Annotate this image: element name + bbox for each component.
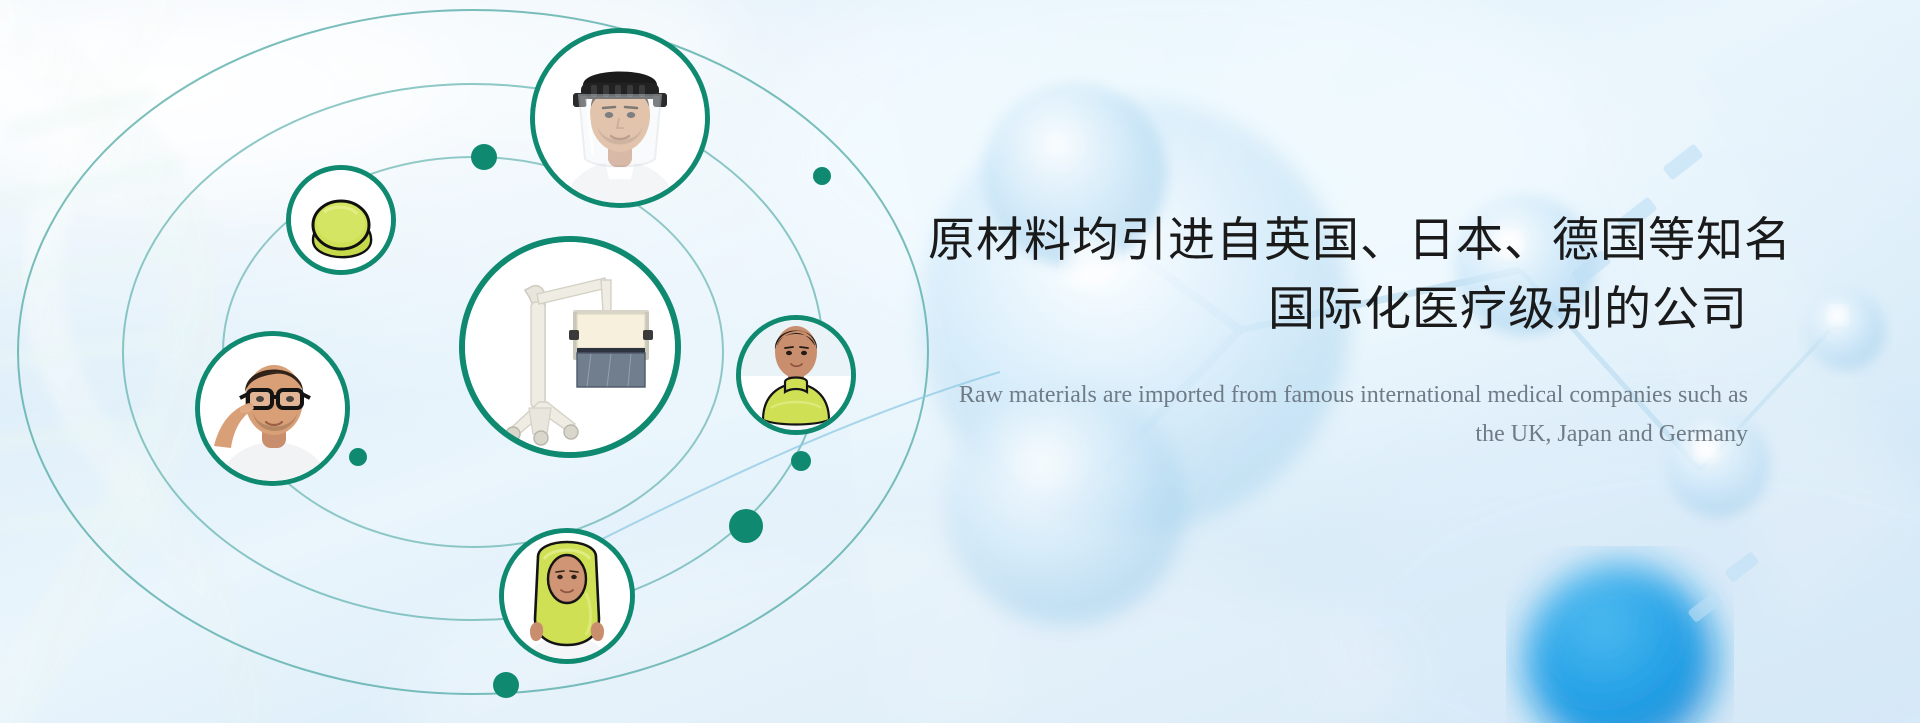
- orbit-dot-5: [729, 509, 763, 543]
- subtitle-line-1: Raw materials are imported from famous i…: [928, 376, 1748, 415]
- lead-cap-image: [291, 170, 391, 270]
- protective-hood-image: [504, 533, 630, 659]
- thyroid-collar-illustration: [741, 320, 851, 430]
- protective-hood-illustration: [504, 533, 630, 659]
- mobile-shield-image: [465, 242, 675, 452]
- headline-line-2: 国际化医疗级别的公司: [928, 275, 1748, 342]
- hero-banner: 原材料均引进自英国、日本、德国等知名 国际化医疗级别的公司 Raw materi…: [0, 0, 1920, 723]
- lead-glasses-image: [200, 336, 345, 481]
- headline-line-1: 原材料均引进自英国、日本、德国等知名: [928, 206, 1748, 273]
- orbit-dot-4: [791, 451, 811, 471]
- thyroid-collar-image: [741, 320, 851, 430]
- bubble-face-shield[interactable]: [535, 33, 705, 203]
- orbit-dot-3: [349, 448, 367, 466]
- bubble-thyroid-collar[interactable]: [741, 320, 851, 430]
- hero-copy: 原材料均引进自英国、日本、德国等知名 国际化医疗级别的公司 Raw materi…: [928, 206, 1748, 454]
- bubble-mobile-shield[interactable]: [465, 242, 675, 452]
- orbit-dot-2: [813, 167, 831, 185]
- mobile-shield-illustration: [465, 242, 675, 452]
- lead-glasses-illustration: [200, 336, 345, 481]
- bubble-protective-hood[interactable]: [504, 533, 630, 659]
- orbit-dot-6: [493, 672, 519, 698]
- face-shield-illustration: [535, 33, 705, 203]
- bubble-lead-glasses[interactable]: [200, 336, 345, 481]
- orbit-dot-1: [471, 144, 497, 170]
- lead-cap-illustration: [291, 170, 391, 270]
- subtitle-line-2: the UK, Japan and Germany: [928, 415, 1748, 454]
- bubble-lead-cap[interactable]: [291, 170, 391, 270]
- face-shield-image: [535, 33, 705, 203]
- subtitle: Raw materials are imported from famous i…: [928, 376, 1748, 454]
